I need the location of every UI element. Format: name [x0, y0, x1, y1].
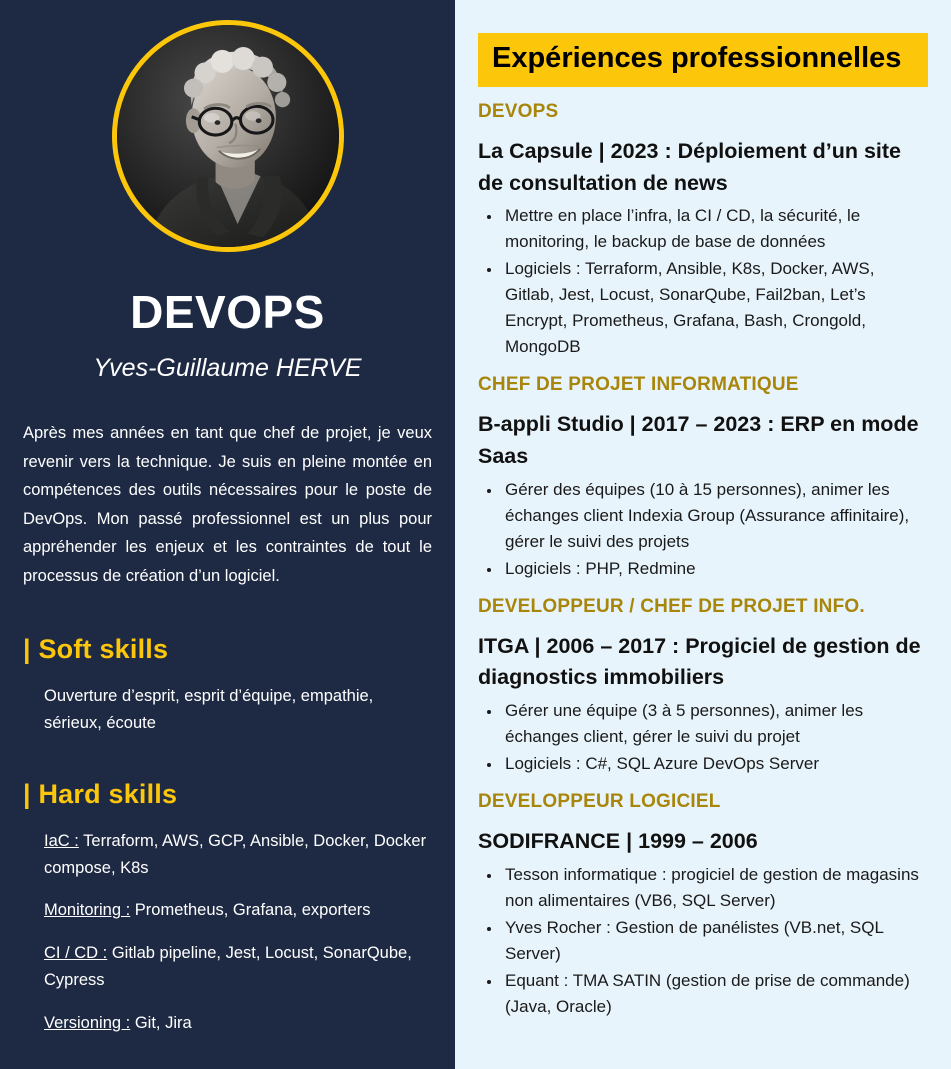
skill-label: IaC :	[44, 832, 79, 850]
experience-column: Expériences professionnelles DEVOPS La C…	[455, 0, 951, 1069]
list-item: Equant : TMA SATIN (gestion de prise de …	[502, 968, 928, 1020]
experience-category: CHEF DE PROJET INFORMATIQUE	[478, 374, 928, 397]
experience-category: DEVELOPPEUR LOGICIEL	[478, 791, 928, 814]
left-sidebar: DEVOPS Yves-Guillaume HERVE Après mes an…	[0, 0, 455, 1069]
experience-entry: DEVELOPPEUR LOGICIEL SODIFRANCE | 1999 –…	[455, 791, 951, 1020]
list-item: Monitoring : Prometheus, Grafana, export…	[44, 881, 432, 924]
experience-title: La Capsule | 2023 : Déploiement d’un sit…	[478, 136, 928, 200]
skill-value: Terraform, AWS, GCP, Ansible, Docker, Do…	[44, 832, 426, 877]
cv-page: DEVOPS Yves-Guillaume HERVE Après mes an…	[0, 0, 951, 1069]
experience-bullets: Gérer des équipes (10 à 15 personnes), a…	[478, 477, 928, 582]
list-item: Logiciels : Terraform, Ansible, K8s, Doc…	[502, 256, 928, 360]
experience-title: SODIFRANCE | 1999 – 2006	[478, 826, 928, 858]
experience-entry: CHEF DE PROJET INFORMATIQUE B-appli Stud…	[455, 374, 951, 581]
experience-banner: Expériences professionnelles	[478, 33, 928, 87]
portrait-photo-icon	[117, 25, 339, 247]
experience-bullets: Tesson informatique : progiciel de gesti…	[478, 862, 928, 1020]
experience-entry: DEVELOPPEUR / CHEF DE PROJET INFO. ITGA …	[455, 596, 951, 777]
list-item: Mettre en place l’infra, la CI / CD, la …	[502, 203, 928, 255]
list-item: Versioning : Git, Jira	[44, 994, 432, 1037]
skill-value: Git, Jira	[130, 1014, 191, 1032]
intro-paragraph: Après mes années en tant que chef de pro…	[23, 419, 432, 590]
list-item: Tesson informatique : progiciel de gesti…	[502, 862, 928, 914]
experience-bullets: Gérer une équipe (3 à 5 personnes), anim…	[478, 698, 928, 777]
list-item: IaC : Terraform, AWS, GCP, Ansible, Dock…	[44, 810, 432, 881]
list-item: Yves Rocher : Gestion de panélistes (VB.…	[502, 915, 928, 967]
avatar	[112, 20, 344, 252]
experience-bullets: Mettre en place l’infra, la CI / CD, la …	[478, 203, 928, 360]
experience-entry: DEVOPS La Capsule | 2023 : Déploiement d…	[455, 101, 951, 360]
person-name: Yves-Guillaume HERVE	[0, 354, 455, 383]
skill-label: CI / CD :	[44, 944, 107, 962]
list-item: CI / CD : Gitlab pipeline, Jest, Locust,…	[44, 924, 432, 993]
hard-skills-list: IaC : Terraform, AWS, GCP, Ansible, Dock…	[0, 810, 455, 1036]
list-item: Gérer une équipe (3 à 5 personnes), anim…	[502, 698, 928, 750]
soft-skills-heading: | Soft skills	[23, 634, 455, 665]
page-title: DEVOPS	[0, 288, 455, 336]
experience-category: DEVOPS	[478, 101, 928, 124]
hard-skills-heading: | Hard skills	[23, 779, 455, 810]
skill-label: Versioning :	[44, 1014, 130, 1032]
list-item: Gérer des équipes (10 à 15 personnes), a…	[502, 477, 928, 555]
list-item: Logiciels : PHP, Redmine	[502, 556, 928, 582]
experience-title: ITGA | 2006 – 2017 : Progiciel de gestio…	[478, 631, 928, 695]
list-item: Logiciels : C#, SQL Azure DevOps Server	[502, 751, 928, 777]
soft-skills-body: Ouverture d’esprit, esprit d’équipe, emp…	[44, 683, 432, 736]
skill-value: Prometheus, Grafana, exporters	[130, 901, 370, 919]
experience-category: DEVELOPPEUR / CHEF DE PROJET INFO.	[478, 596, 928, 619]
experience-title: B-appli Studio | 2017 – 2023 : ERP en mo…	[478, 409, 928, 473]
skill-label: Monitoring :	[44, 901, 130, 919]
